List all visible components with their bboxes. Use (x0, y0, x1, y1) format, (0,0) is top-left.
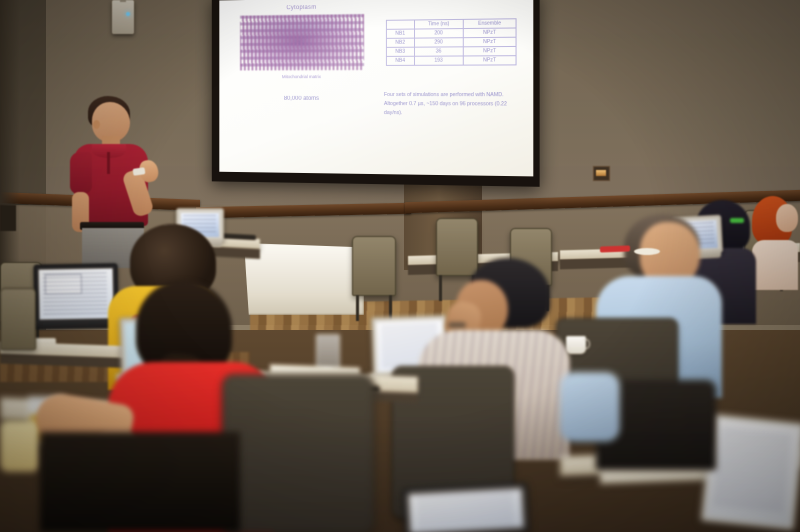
slide-table-cell: NPzT (463, 46, 516, 56)
slide-table-cell: 290 (414, 38, 463, 48)
presentation-slide: Cytoplasm Mitochondrial matrix 80,000 at… (219, 0, 533, 176)
slide-table-cell: 36 (414, 47, 463, 56)
laptop-bottom-center[interactable] (403, 483, 525, 532)
attendee-dark-hair-clip (730, 218, 744, 223)
laptop-base (30, 319, 118, 330)
laptop-screen-content (43, 272, 107, 314)
plate (634, 248, 660, 255)
exit-sign (0, 205, 16, 231)
wall-panel-display (596, 170, 606, 176)
slide-table-cell: NB4 (386, 56, 414, 65)
laptop-screen (408, 488, 524, 532)
wristwatch (448, 322, 466, 328)
slide-table-col-1: Time (ns) (414, 19, 463, 29)
slide-table-cell: NPzT (463, 28, 516, 38)
presenter-placket (107, 152, 110, 174)
presenter-left-sleeve (70, 152, 92, 194)
laptop-screen-content (712, 427, 792, 514)
slide-table-cell: 193 (414, 56, 463, 65)
presentation-room-photo: Cytoplasm Mitochondrial matrix 80,000 at… (0, 0, 800, 532)
projection-screen-surface: Cytoplasm Mitochondrial matrix 80,000 at… (219, 0, 533, 176)
projection-screen: Cytoplasm Mitochondrial matrix 80,000 at… (212, 0, 540, 187)
snack-bag (0, 420, 40, 472)
ceiling-speaker-icon (112, 0, 134, 34)
slide-diagram: Cytoplasm Mitochondrial matrix (234, 4, 370, 79)
slide-table-col-0 (386, 20, 414, 29)
laptop-screen (706, 419, 800, 525)
slide-table-cell: 200 (414, 29, 463, 39)
laptop-lid (403, 483, 529, 532)
laptop-left-back[interactable] (34, 263, 115, 320)
slide-table-cell: NB1 (386, 29, 414, 38)
empty-chair-1[interactable] (352, 236, 396, 296)
laptop-screen-content (415, 492, 515, 530)
laptop-screen (39, 268, 114, 319)
cup-handle (583, 339, 590, 349)
slide-table-cell: NPzT (463, 37, 516, 47)
wall-control-panel[interactable] (593, 166, 610, 181)
slide-table-cell: NB2 (386, 38, 414, 47)
ceiling-speaker-stem (120, 0, 126, 2)
slide-table-row: NB4193NPzT (386, 56, 516, 66)
laptop-lid (34, 263, 119, 324)
slide-membrane-graphic (240, 14, 364, 70)
chair-left-mid[interactable] (0, 288, 36, 350)
slide-table-cell: NPzT (463, 56, 516, 65)
slide-atoms-caption: 80,000 atoms (234, 96, 370, 102)
attendee-blue-lower-shoulder (560, 372, 620, 442)
slide-diagram-label-top: Cytoplasm (234, 4, 370, 12)
slide-table-cell: NB3 (386, 47, 414, 56)
slide-diagram-label-bottom: Mitochondrial matrix (234, 74, 370, 79)
slide-paragraph: Four sets of simulations are performed w… (384, 91, 525, 119)
slide-data-table: Time (ns) Ensemble NB1200NPzTNB2290NPzTN… (386, 18, 517, 66)
chair-foreground-right[interactable] (222, 374, 374, 532)
ceiling-speaker-led (126, 12, 130, 16)
table-shadow-foreground (40, 432, 240, 532)
red-marker[interactable] (600, 245, 630, 252)
presenter-ear (93, 120, 100, 129)
attendee-red-hair-head (776, 204, 798, 232)
